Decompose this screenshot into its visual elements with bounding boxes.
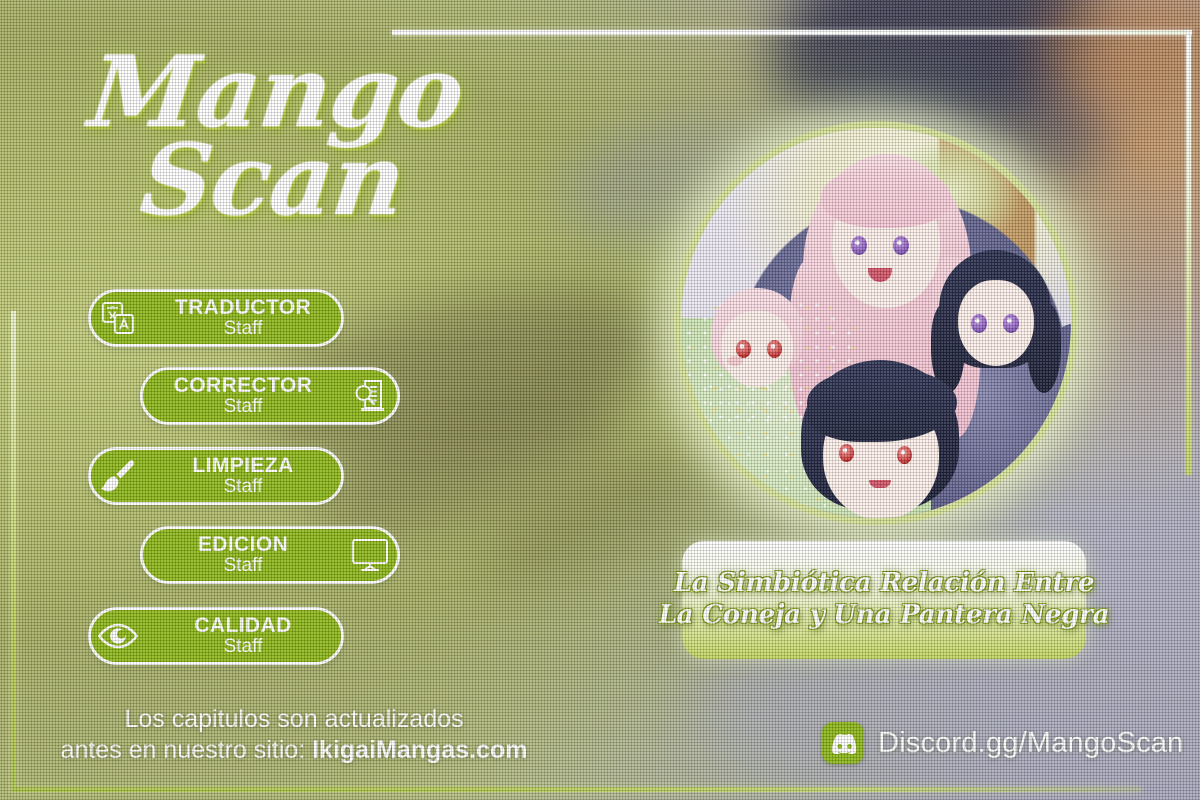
credit-role: EDICION: [147, 534, 339, 556]
site-note-prefix: antes en nuestro sitio:: [61, 736, 313, 764]
credit-pill-calidad[interactable]: CALIDAD Staff: [88, 607, 344, 665]
cover-illustration-circle: [674, 121, 1078, 525]
credit-pill-corrector[interactable]: CORRECTOR Staff: [140, 367, 400, 425]
series-title-line-2: La Coneja y Una Pantera Negra: [659, 600, 1110, 632]
credit-role: CORRECTOR: [147, 375, 339, 397]
site-note-line-2: antes en nuestro sitio: IkigaiMangas.com: [44, 735, 544, 766]
credit-name: Staff: [147, 397, 339, 417]
credit-role: TRADUCTOR: [149, 297, 337, 319]
credit-pill-limpieza[interactable]: LIMPIEZA Staff: [88, 447, 344, 505]
frame-line-right: [1186, 30, 1191, 475]
credits-page: Mango Scan TRADUCTOR Staff CORRECTOR Sta: [0, 0, 1200, 800]
credit-name: Staff: [147, 556, 339, 576]
series-title-plaque: La Simbiótica Relación Entre La Coneja y…: [682, 541, 1086, 659]
discord-label[interactable]: Discord.gg/MangoScan: [878, 727, 1183, 760]
paint-brush-icon: [91, 449, 145, 503]
discord-icon: [822, 722, 864, 764]
site-name[interactable]: IkigaiMangas.com: [312, 736, 527, 764]
credit-role: LIMPIEZA: [149, 455, 337, 477]
credit-text: CALIDAD Staff: [145, 615, 341, 657]
credit-role: CALIDAD: [149, 615, 337, 637]
credits-list: TRADUCTOR Staff CORRECTOR Staff: [0, 0, 520, 800]
credit-pill-edicion[interactable]: EDICION Staff: [140, 526, 400, 584]
proofread-doc-icon: [343, 369, 397, 423]
credit-text: TRADUCTOR Staff: [145, 297, 341, 339]
cover-illustration: [681, 128, 1071, 518]
credit-text: EDICION Staff: [143, 534, 343, 576]
credit-name: Staff: [149, 637, 337, 657]
site-note-line-1: Los capitulos son actualizados: [44, 704, 544, 735]
eye-icon: [91, 609, 145, 663]
credit-text: LIMPIEZA Staff: [145, 455, 341, 497]
discord-link[interactable]: Discord.gg/MangoScan: [822, 721, 1183, 765]
series-title-line-1: La Simbiótica Relación Entre: [674, 568, 1095, 600]
credit-name: Staff: [149, 319, 337, 339]
credit-pill-traductor[interactable]: TRADUCTOR Staff: [88, 289, 344, 347]
translate-icon: [91, 291, 145, 345]
credit-text: CORRECTOR Staff: [143, 375, 343, 417]
desktop-monitor-icon: [343, 528, 397, 582]
credit-name: Staff: [149, 477, 337, 497]
site-update-note: Los capitulos son actualizados antes en …: [44, 704, 544, 765]
